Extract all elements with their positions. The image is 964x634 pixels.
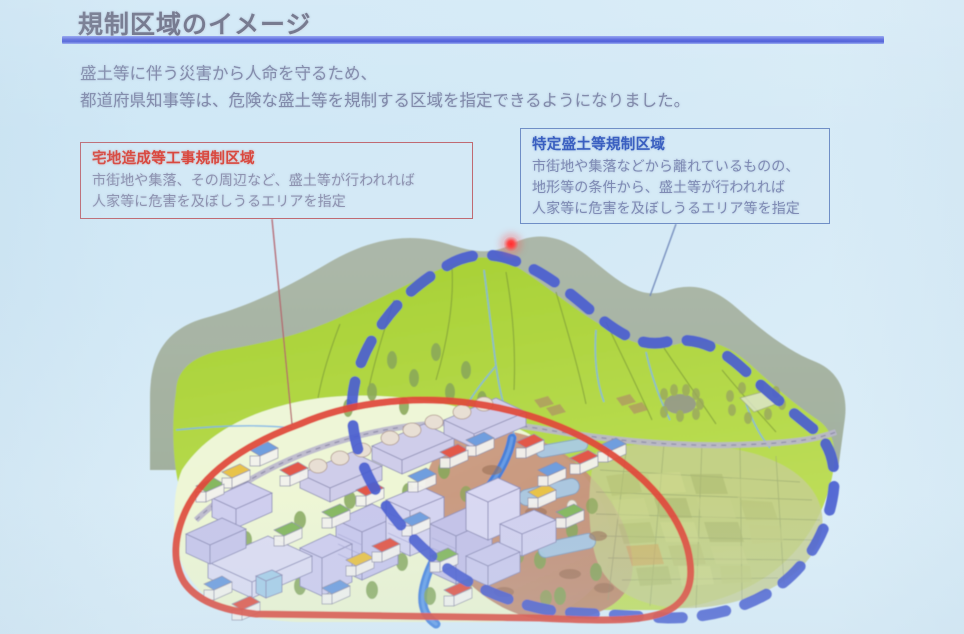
laser-pointer-dot — [503, 236, 519, 252]
callout-box-specified-fill: 特定盛土等規制区域 市街地や集落などから離れているものの、 地形等の条件から、盛… — [520, 128, 830, 224]
callout-right-heading: 特定盛土等規制区域 — [532, 136, 819, 155]
callout-box-residential-construction: 宅地造成等工事規制区域 市街地や集落、その周辺など、盛土等が行われれば 人家等に… — [80, 142, 473, 219]
callout-left-heading: 宅地造成等工事規制区域 — [92, 150, 462, 169]
callout-left-line-1: 市街地や集落、その周辺など、盛土等が行われれば — [92, 171, 462, 192]
callout-left-line-2: 人家等に危害を及ぼしうるエリアを指定 — [92, 192, 462, 213]
callout-right-line-3: 人家等に危害を及ぼしうるエリア等を指定 — [532, 199, 819, 220]
callout-right-line-1: 市街地や集落などから離れているものの、 — [532, 157, 819, 178]
illustration-canvas — [0, 0, 964, 634]
callout-right-line-2: 地形等の条件から、盛土等が行われれば — [532, 178, 819, 199]
right-callout-leader-line — [650, 224, 676, 296]
presentation-slide: 規制区域のイメージ 盛土等に伴う災害から人命を守るため、 都道府県知事等は、危険… — [0, 0, 964, 634]
